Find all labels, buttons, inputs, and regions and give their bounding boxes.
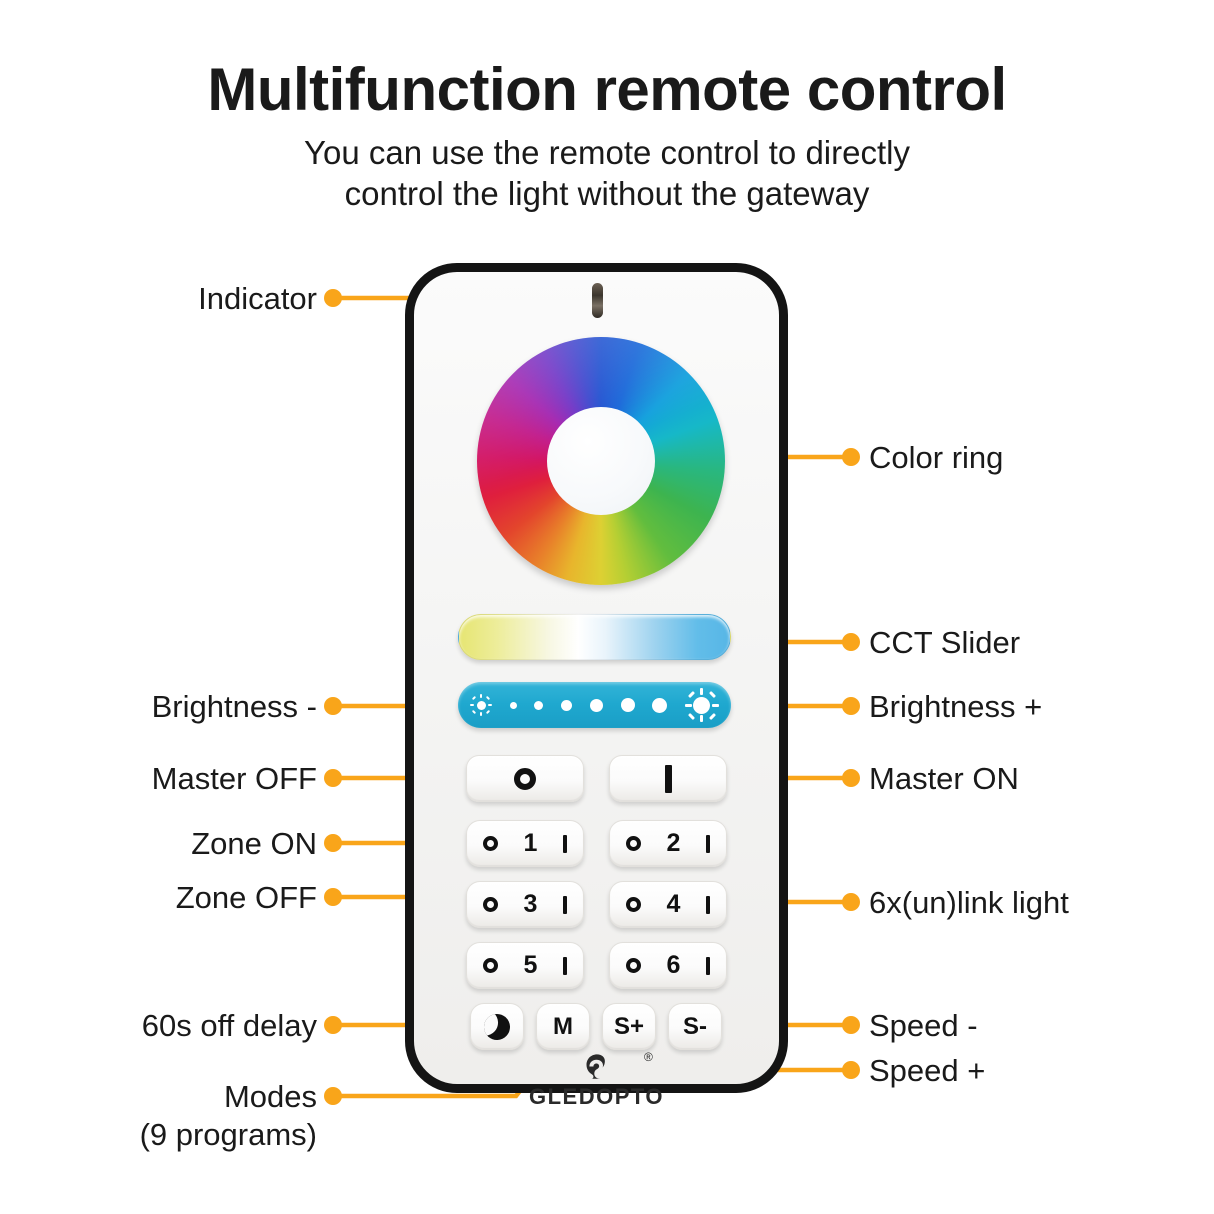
zone-button-2[interactable]: 2 (609, 820, 727, 867)
zone-off-icon[interactable] (483, 836, 498, 851)
zone-number: 2 (667, 831, 681, 856)
color-ring-touchpad[interactable] (477, 337, 725, 585)
callout-brightness-up: Brightness + (869, 688, 1042, 726)
callout-indicator: Indicator (0, 280, 317, 318)
zone-number: 5 (524, 953, 538, 978)
zone-off-icon[interactable] (483, 958, 498, 973)
brightness-step-dot[interactable] (561, 700, 572, 711)
night-off-delay-button[interactable] (470, 1003, 524, 1050)
zone-off-icon[interactable] (483, 897, 498, 912)
gledopto-mark-icon (582, 1052, 612, 1082)
zone-off-icon[interactable] (626, 958, 641, 973)
brightness-step-dot[interactable] (590, 699, 603, 712)
power-off-icon (514, 768, 536, 790)
zone-on-icon[interactable] (706, 957, 710, 975)
speed-up-button[interactable]: S+ (602, 1003, 656, 1050)
mode-button-label: M (553, 1013, 573, 1041)
speed-down-button[interactable]: S- (668, 1003, 722, 1050)
brightness-step-dot[interactable] (621, 698, 635, 712)
speed-up-label: S+ (614, 1013, 644, 1041)
zone-button-3[interactable]: 3 (466, 881, 584, 928)
zone-number: 1 (524, 831, 538, 856)
brand-name: GLEDOPTO (405, 1084, 788, 1110)
large-sun-icon (685, 688, 719, 722)
zone-button-6[interactable]: 6 (609, 942, 727, 989)
registered-trademark-icon: ® (644, 1050, 653, 1064)
zone-off-icon[interactable] (626, 836, 641, 851)
cct-slider[interactable] (458, 614, 731, 660)
speed-down-label: S- (683, 1013, 707, 1041)
callout-speed-up: Speed + (869, 1052, 985, 1090)
zone-on-icon[interactable] (563, 835, 567, 853)
callout-modes-line-2: (9 programs) (0, 1116, 317, 1154)
zone-on-icon[interactable] (706, 896, 710, 914)
callout-master-on: Master ON (869, 760, 1019, 798)
zone-number: 4 (667, 892, 681, 917)
callout-off-delay: 60s off delay (0, 1007, 317, 1045)
subtitle-line-2: control the light without the gateway (0, 173, 1214, 214)
callout-cct-slider: CCT Slider (869, 624, 1020, 662)
master-off-button[interactable] (466, 755, 584, 802)
callout-link-light: 6x(un)link light (869, 884, 1069, 922)
page-subtitle: You can use the remote control to direct… (0, 132, 1214, 214)
status-led-indicator (592, 283, 603, 318)
page-title: Multifunction remote control (0, 55, 1214, 124)
callout-zone-on: Zone ON (0, 825, 317, 863)
brand-logo: GLEDOPTO (405, 1052, 788, 1110)
zone-on-icon[interactable] (563, 957, 567, 975)
zone-off-icon[interactable] (626, 897, 641, 912)
brightness-slider[interactable] (458, 682, 731, 728)
moon-icon (480, 1009, 515, 1044)
callout-zone-off: Zone OFF (0, 879, 317, 917)
zone-number: 6 (667, 953, 681, 978)
callout-color-ring: Color ring (869, 439, 1003, 477)
callout-modes-line-1: Modes (0, 1078, 317, 1116)
power-on-icon (665, 765, 672, 793)
mode-button[interactable]: M (536, 1003, 590, 1050)
zone-on-icon[interactable] (706, 835, 710, 853)
brightness-step-dot[interactable] (534, 701, 543, 710)
master-on-button[interactable] (609, 755, 727, 802)
subtitle-line-1: You can use the remote control to direct… (0, 132, 1214, 173)
diagram-canvas: Multifunction remote control You can use… (0, 0, 1214, 1214)
callout-brightness-down: Brightness - (0, 688, 317, 726)
brightness-step-dot[interactable] (652, 698, 667, 713)
callout-speed-down: Speed - (869, 1007, 978, 1045)
zone-button-4[interactable]: 4 (609, 881, 727, 928)
zone-number: 3 (524, 892, 538, 917)
zone-button-5[interactable]: 5 (466, 942, 584, 989)
callout-modes: Modes (9 programs) (0, 1078, 317, 1154)
callout-master-off: Master OFF (0, 760, 317, 798)
brightness-step-dot[interactable] (510, 702, 517, 709)
zone-on-icon[interactable] (563, 896, 567, 914)
small-sun-icon (470, 694, 492, 716)
zone-button-1[interactable]: 1 (466, 820, 584, 867)
